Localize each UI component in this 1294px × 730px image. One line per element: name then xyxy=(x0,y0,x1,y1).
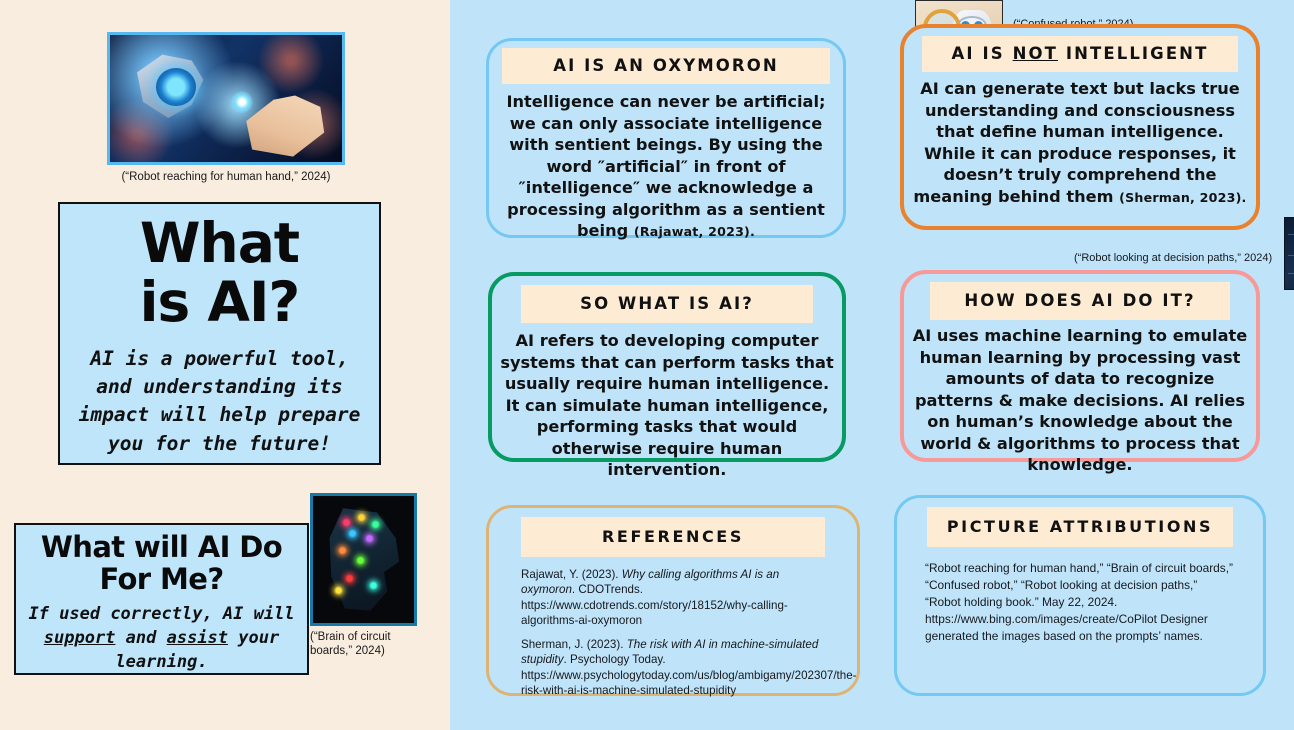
reference-author-year: Sherman, J. (2023). xyxy=(521,638,627,651)
card-ai-is-an-oxymoron: AI IS AN OXYMORON Intelligence can never… xyxy=(486,38,846,238)
card-references: REFERENCES Rajawat, Y. (2023). Why calli… xyxy=(486,505,860,696)
card-not-intelligent-heading: AI IS NOT INTELLIGENT xyxy=(922,36,1238,72)
decision-path-line xyxy=(1288,255,1294,256)
card-ai-is-not-intelligent: AI IS NOT INTELLIGENT AI can generate te… xyxy=(900,24,1260,230)
robot-decision-paths-caption: (“Robot looking at decision paths,” 2024… xyxy=(1074,252,1272,264)
hero-caption: (“Robot reaching for human hand,” 2024) xyxy=(107,170,345,184)
reference-source: . Psychology Today. https://www.psycholo… xyxy=(521,653,857,697)
spark-icon xyxy=(231,91,253,113)
what-will-body-part2: and xyxy=(115,628,166,648)
reference-author-year: Rajawat, Y. (2023). xyxy=(521,568,622,581)
what-will-ai-do-title-line2: For Me? xyxy=(41,563,282,595)
decision-path-line xyxy=(1288,273,1294,274)
what-will-body-part1: If used correctly, AI will xyxy=(28,604,294,624)
right-panel: (“Confused robot,” 2024) AI IS AN OXYMOR… xyxy=(450,0,1294,730)
card-so-what-heading: SO WHAT IS AI? xyxy=(521,285,813,323)
brain-of-circuit-boards-image xyxy=(310,493,417,626)
what-is-ai-body: AI is a powerful tool, and understanding… xyxy=(60,345,379,458)
reference-entry: Sherman, J. (2023). The risk with AI in … xyxy=(521,637,825,698)
what-will-ai-do-title: What will AI Do For Me? xyxy=(41,531,282,596)
neuron-dot xyxy=(339,547,346,554)
card-not-intelligent-citation: (Sherman, 2023). xyxy=(1119,190,1246,205)
poster-canvas: (“Robot reaching for human hand,” 2024) … xyxy=(0,0,1294,730)
card-oxymoron-heading: AI IS AN OXYMORON xyxy=(502,48,830,84)
brain-figure: (“Brain of circuit boards,” 2024) xyxy=(310,493,440,659)
card-how-does-heading: HOW DOES AI DO IT? xyxy=(930,282,1230,320)
neuron-dot xyxy=(370,582,377,589)
card-so-what-body: AI refers to developing computer systems… xyxy=(500,330,834,481)
heading-post: INTELLIGENT xyxy=(1058,44,1208,63)
neuron-dot xyxy=(372,521,379,528)
what-is-ai-title-line1: What xyxy=(140,214,300,273)
card-attributions-heading: PICTURE ATTRIBUTIONS xyxy=(927,507,1233,547)
heading-underline-not: NOT xyxy=(1013,44,1058,63)
robot-reaching-for-human-hand-image xyxy=(107,32,345,165)
brain-caption: (“Brain of circuit boards,” 2024) xyxy=(310,630,430,659)
card-oxymoron-citation: (Rajawat, 2023). xyxy=(634,224,755,239)
robot-palm-eye-icon xyxy=(156,68,195,106)
neuron-dot xyxy=(366,535,373,542)
what-will-body-underline-assist: assist xyxy=(167,628,228,648)
card-picture-attributions: PICTURE ATTRIBUTIONS “Robot reaching for… xyxy=(894,495,1266,696)
robot-looking-at-decision-paths-image xyxy=(1284,217,1294,290)
card-references-heading: REFERENCES xyxy=(521,517,825,557)
hero-figure: (“Robot reaching for human hand,” 2024) xyxy=(107,32,345,184)
what-will-ai-do-body: If used correctly, AI will support and a… xyxy=(16,603,307,674)
card-oxymoron-body-text: Intelligence can never be artificial; we… xyxy=(506,92,825,240)
card-how-does-ai-do-it: HOW DOES AI DO IT? AI uses machine learn… xyxy=(900,270,1260,462)
card-attributions-body: “Robot reaching for human hand,” “Brain … xyxy=(925,560,1235,645)
card-oxymoron-body: Intelligence can never be artificial; we… xyxy=(498,91,834,242)
reference-list: Rajawat, Y. (2023). Why calling algorith… xyxy=(521,567,825,698)
what-is-ai-title-line2: is AI? xyxy=(140,273,300,332)
card-not-intelligent-body-text: AI can generate text but lacks true unde… xyxy=(913,79,1239,206)
card-so-what-is-ai: SO WHAT IS AI? AI refers to developing c… xyxy=(488,272,846,462)
left-panel: (“Robot reaching for human hand,” 2024) … xyxy=(0,0,450,730)
what-will-ai-do-title-line1: What will AI Do xyxy=(41,531,282,563)
what-will-ai-do-box: What will AI Do For Me? If used correctl… xyxy=(14,523,309,675)
reference-entry: Rajawat, Y. (2023). Why calling algorith… xyxy=(521,567,825,628)
card-how-does-body: AI uses machine learning to emulate huma… xyxy=(908,325,1252,476)
what-is-ai-box: What is AI? AI is a powerful tool, and u… xyxy=(58,202,381,465)
card-not-intelligent-body: AI can generate text but lacks true unde… xyxy=(911,78,1249,207)
what-is-ai-title: What is AI? xyxy=(140,214,300,333)
what-will-body-underline-support: support xyxy=(44,628,116,648)
heading-pre: AI IS xyxy=(952,44,1013,63)
decision-path-line xyxy=(1288,234,1294,235)
